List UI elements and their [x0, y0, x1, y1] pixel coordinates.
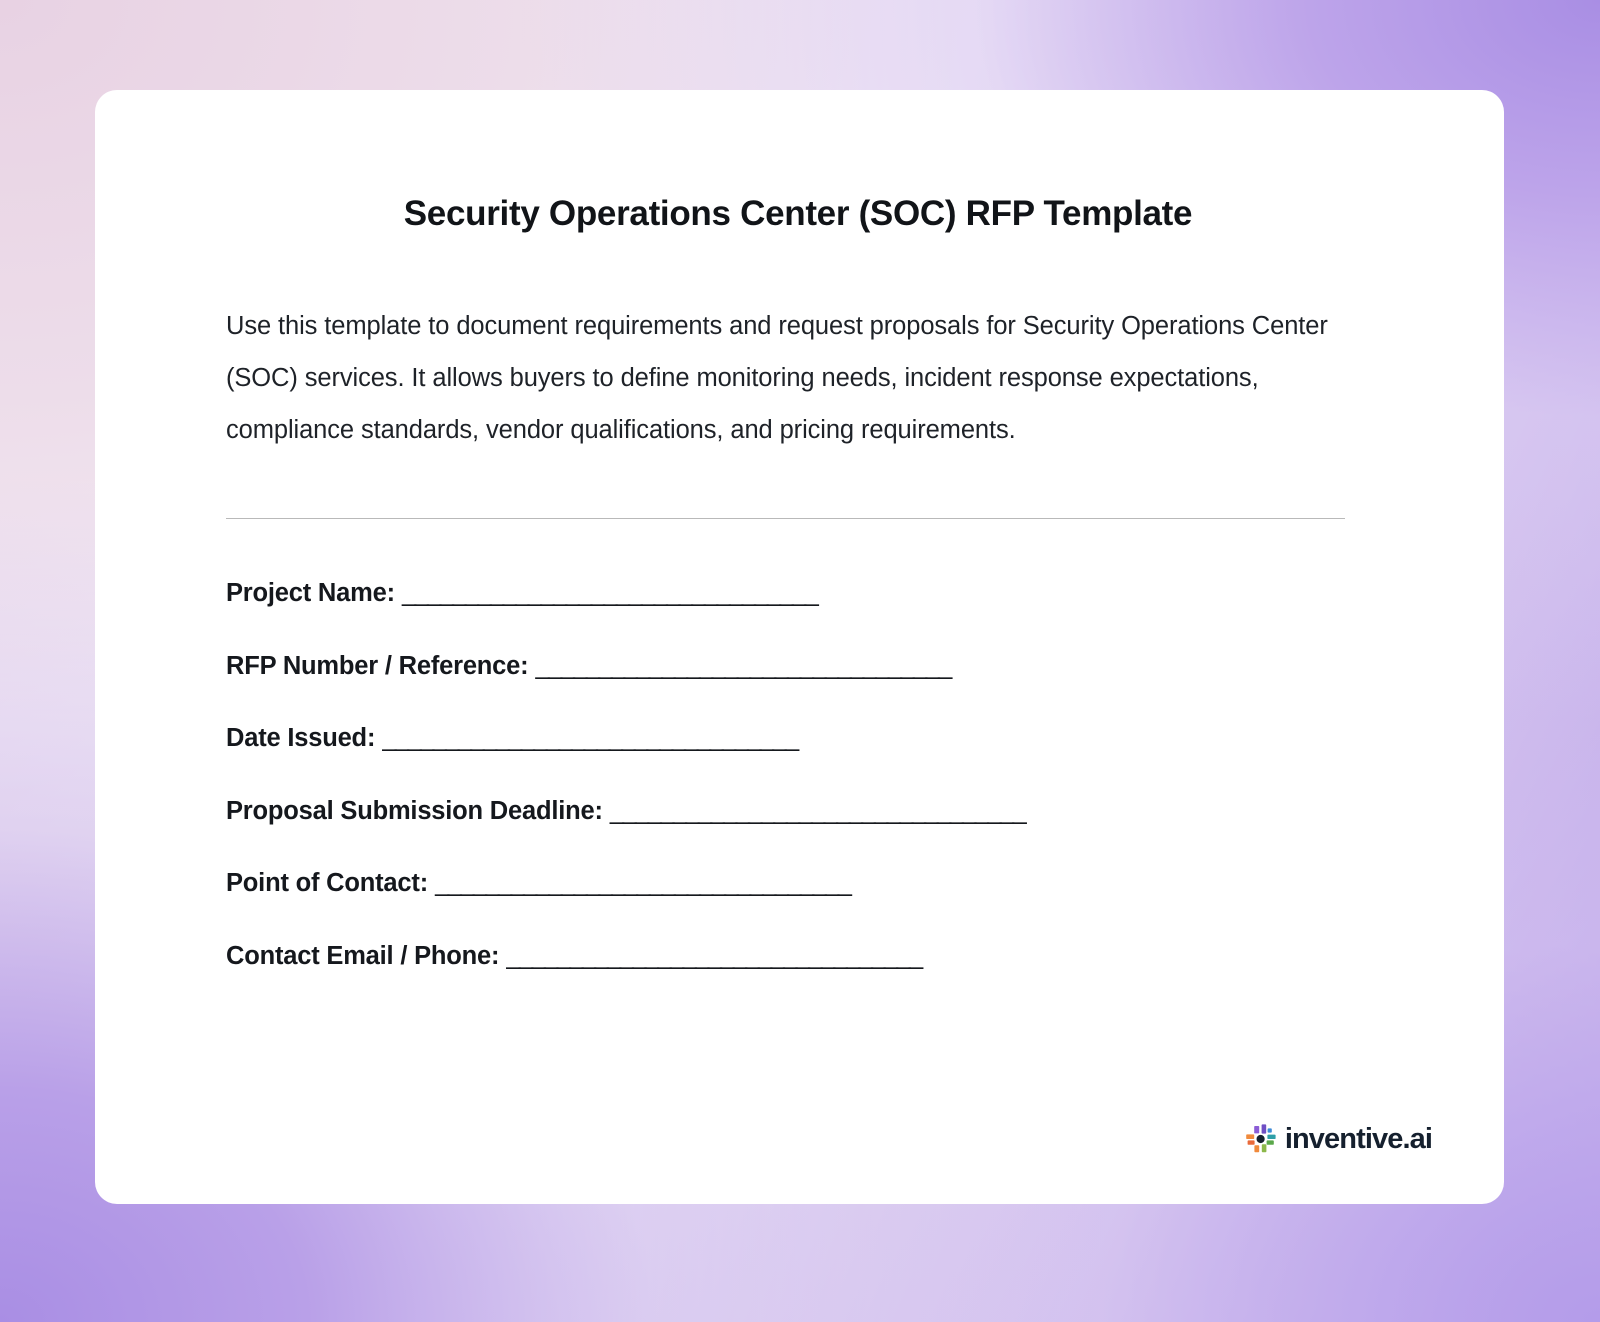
field-label-point-of-contact: Point of Contact:	[226, 869, 428, 897]
field-row-rfp-number[interactable]: RFP Number / Reference: ________________…	[226, 654, 1376, 680]
field-row-date-issued[interactable]: Date Issued: ___________________________…	[226, 726, 1376, 752]
inventive-burst-icon	[1244, 1122, 1278, 1156]
field-row-point-of-contact[interactable]: Point of Contact: ______________________…	[226, 871, 1376, 897]
form-fields-list: Project Name: __________________________…	[226, 581, 1376, 969]
field-label-contact-email-phone: Contact Email / Phone:	[226, 942, 499, 970]
field-blank-project-name[interactable]: _________________________________	[402, 579, 817, 607]
document-card: Security Operations Center (SOC) RFP Tem…	[95, 90, 1504, 1204]
document-content: Security Operations Center (SOC) RFP Tem…	[226, 90, 1376, 969]
field-row-project-name[interactable]: Project Name: __________________________…	[226, 581, 1376, 607]
brand-name-text: inventive.ai	[1285, 1125, 1432, 1154]
field-label-proposal-deadline: Proposal Submission Deadline:	[226, 797, 603, 825]
field-label-project-name: Project Name:	[226, 579, 395, 607]
brand-logo: inventive.ai	[1244, 1122, 1432, 1156]
page-title: Security Operations Center (SOC) RFP Tem…	[220, 194, 1376, 234]
field-blank-proposal-deadline[interactable]: _________________________________	[610, 797, 1025, 825]
field-blank-rfp-number[interactable]: _________________________________	[536, 652, 951, 680]
document-intro-paragraph: Use this template to document requiremen…	[226, 300, 1351, 456]
field-blank-contact-email-phone[interactable]: _________________________________	[506, 942, 921, 970]
section-divider	[226, 518, 1345, 519]
field-blank-date-issued[interactable]: _________________________________	[382, 724, 797, 752]
field-row-contact-email-phone[interactable]: Contact Email / Phone: _________________…	[226, 944, 1376, 970]
field-row-proposal-deadline[interactable]: Proposal Submission Deadline: __________…	[226, 799, 1376, 825]
field-label-date-issued: Date Issued:	[226, 724, 375, 752]
field-label-rfp-number: RFP Number / Reference:	[226, 652, 528, 680]
field-blank-point-of-contact[interactable]: _________________________________	[435, 869, 850, 897]
